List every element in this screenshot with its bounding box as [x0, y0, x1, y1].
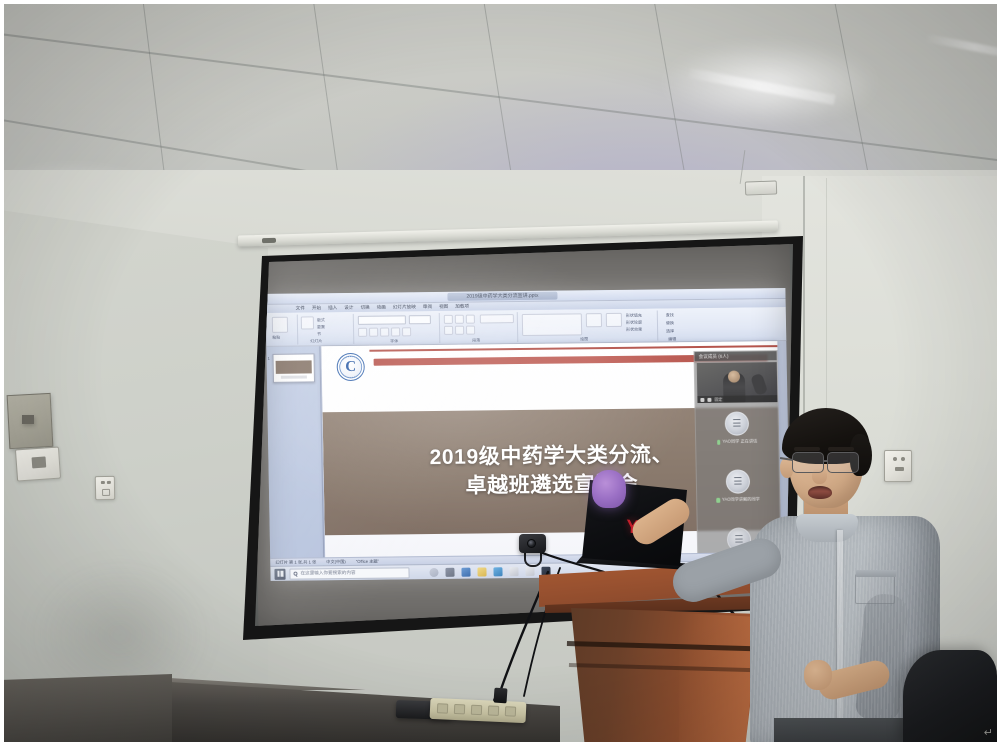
ribbon-shape-effects-label: 形状效果: [626, 327, 642, 333]
status-language: 中文(中国): [326, 559, 346, 565]
ribbon-group-drawing-label: 绘图: [580, 336, 588, 342]
ribbon-tab-animations[interactable]: 动画: [377, 305, 386, 311]
participants-panel-header: 会议成员 (6人): [695, 351, 777, 361]
image-border-top: [0, 0, 997, 4]
ribbon-align-left-button[interactable]: [444, 326, 453, 335]
ribbon-font-name-field[interactable]: [358, 315, 406, 325]
ribbon-text-direction-button[interactable]: [480, 314, 514, 323]
ribbon-numbering-button[interactable]: [455, 315, 464, 324]
webcam-stand: [524, 551, 542, 567]
ribbon-group-slides-label: 幻灯片: [310, 338, 322, 344]
ribbon-group-font-label: 字体: [390, 338, 398, 344]
presenter-right-hand: [592, 470, 626, 508]
projector-screen-mount-bracket: [745, 180, 777, 195]
ribbon-tab-design[interactable]: 设计: [344, 305, 353, 311]
mail-icon[interactable]: [493, 567, 502, 576]
ribbon-font-size-field[interactable]: [409, 315, 431, 324]
presenter-mouth: [808, 486, 832, 499]
ribbon-bullets-button[interactable]: [444, 315, 453, 324]
university-seal-logo: C: [336, 353, 365, 381]
ribbon-group-paragraph-label: 段落: [472, 337, 480, 343]
ribbon-arrange-button[interactable]: [586, 313, 602, 327]
task-view-icon[interactable]: [445, 567, 454, 576]
front-desk-left-section: [0, 668, 172, 745]
ribbon-paste-button[interactable]: [272, 317, 288, 333]
ribbon-tab-slideshow[interactable]: 幻灯片放映: [393, 304, 416, 310]
cortana-icon[interactable]: [429, 567, 438, 576]
slide-thumbnail-number: 1: [268, 356, 270, 361]
ribbon-paste-label: 粘贴: [272, 335, 280, 341]
ribbon-italic-button[interactable]: [369, 328, 378, 337]
ribbon-quick-styles-button[interactable]: [606, 313, 622, 327]
electrical-panel-sublabel: [22, 415, 34, 424]
ribbon-shape-fill-label: 形状填充: [626, 313, 642, 319]
webcam-lens: [527, 539, 536, 548]
shirt-button-2: [838, 624, 842, 628]
powerpoint-document-title: 2019级中药学大类分流宣讲.pptx: [447, 292, 557, 301]
ribbon-tab-transitions[interactable]: 切换: [360, 305, 369, 311]
edge-icon[interactable]: [461, 567, 470, 576]
remote-participant-head: [728, 371, 740, 383]
presenter-chest-pocket: [855, 574, 895, 604]
seal-ring: [340, 356, 362, 378]
ribbon-tab-review[interactable]: 审阅: [423, 304, 432, 310]
presenter-left-hand: [804, 660, 832, 690]
ribbon-bold-button[interactable]: [358, 328, 367, 337]
lecture-hall-photo: 2019级中药学大类分流宣讲.pptx 文件 开始 插入 设计 切换 动画 幻灯…: [0, 0, 997, 745]
ribbon-align-right-button[interactable]: [466, 326, 475, 335]
ribbon-align-center-button[interactable]: [455, 326, 464, 335]
ribbon-new-slide-button[interactable]: [301, 316, 314, 329]
taskbar-icons[interactable]: [429, 566, 550, 576]
presenter-shirt-placket: [837, 530, 843, 742]
ribbon-indent-button[interactable]: [466, 315, 475, 324]
search-icon: [293, 572, 297, 576]
eyeglasses-bridge: [824, 460, 828, 462]
ribbon-find-label[interactable]: 查找: [666, 312, 674, 318]
word-icon[interactable]: [509, 567, 518, 576]
presenter-brow-left: [794, 447, 820, 451]
eyeglasses-right-lens: [827, 452, 859, 473]
usb-webcam: [519, 534, 546, 553]
ribbon-section-label: 节: [317, 331, 321, 337]
presenter-trousers: [774, 718, 924, 745]
slide-title-line-1: 2019级中药学大类分流、: [429, 443, 673, 470]
presenter-collar: [796, 514, 858, 542]
ribbon-tab-insert[interactable]: 插入: [328, 305, 337, 311]
file-explorer-icon[interactable]: [477, 567, 486, 576]
status-theme: “Office 主题”: [356, 558, 379, 564]
ribbon-tab-addins[interactable]: 加载项: [455, 304, 469, 310]
power-strip[interactable]: [430, 698, 527, 723]
ribbon-tab-home[interactable]: 开始: [312, 305, 321, 311]
paragraph-mark: ↵: [984, 726, 993, 739]
presenter-brow-right: [828, 447, 854, 451]
thumbnail-subtitle-band: [281, 375, 307, 378]
ribbon-tab-file[interactable]: 文件: [296, 305, 305, 311]
power-plug: [493, 688, 507, 704]
thumbnail-title-band: [276, 360, 312, 373]
ribbon-shape-outline-label: 形状轮廓: [626, 320, 642, 326]
shirt-button-1: [838, 576, 842, 580]
slide-thumbnail-pane[interactable]: 1: [266, 346, 324, 567]
slide-thumbnail-1[interactable]: [272, 353, 315, 382]
remote-participant-arm: [750, 373, 768, 396]
active-speaker-video-tile[interactable]: 固定: [697, 362, 778, 403]
ribbon-shadow-button[interactable]: [391, 327, 400, 336]
ribbon-replace-label[interactable]: 替换: [666, 320, 674, 326]
search-placeholder: 在这里输入你要搜索的内容: [300, 570, 355, 577]
ribbon-underline-button[interactable]: [380, 328, 389, 337]
presenter-nose: [812, 468, 827, 484]
wall-outlet-left-upper[interactable]: [15, 447, 61, 482]
status-slide-count: 幻灯片 第 1 张,共 1 张: [275, 559, 316, 565]
ribbon-strikethrough-button[interactable]: [402, 327, 411, 336]
search-input[interactable]: 在这里输入你要搜索的内容: [289, 567, 409, 579]
ribbon-tab-view[interactable]: 视图: [439, 304, 448, 310]
ribbon-shape-gallery[interactable]: [522, 313, 582, 336]
ribbon-reset-label: 重置: [317, 324, 325, 330]
powerpoint-icon[interactable]: [525, 566, 534, 575]
windows-start-button[interactable]: [274, 568, 285, 579]
ribbon-select-label[interactable]: 选择: [666, 328, 674, 334]
ribbon-layout-label: 版式: [317, 317, 325, 323]
image-border-left: [0, 0, 4, 745]
wall-outlet-left[interactable]: [95, 476, 115, 500]
